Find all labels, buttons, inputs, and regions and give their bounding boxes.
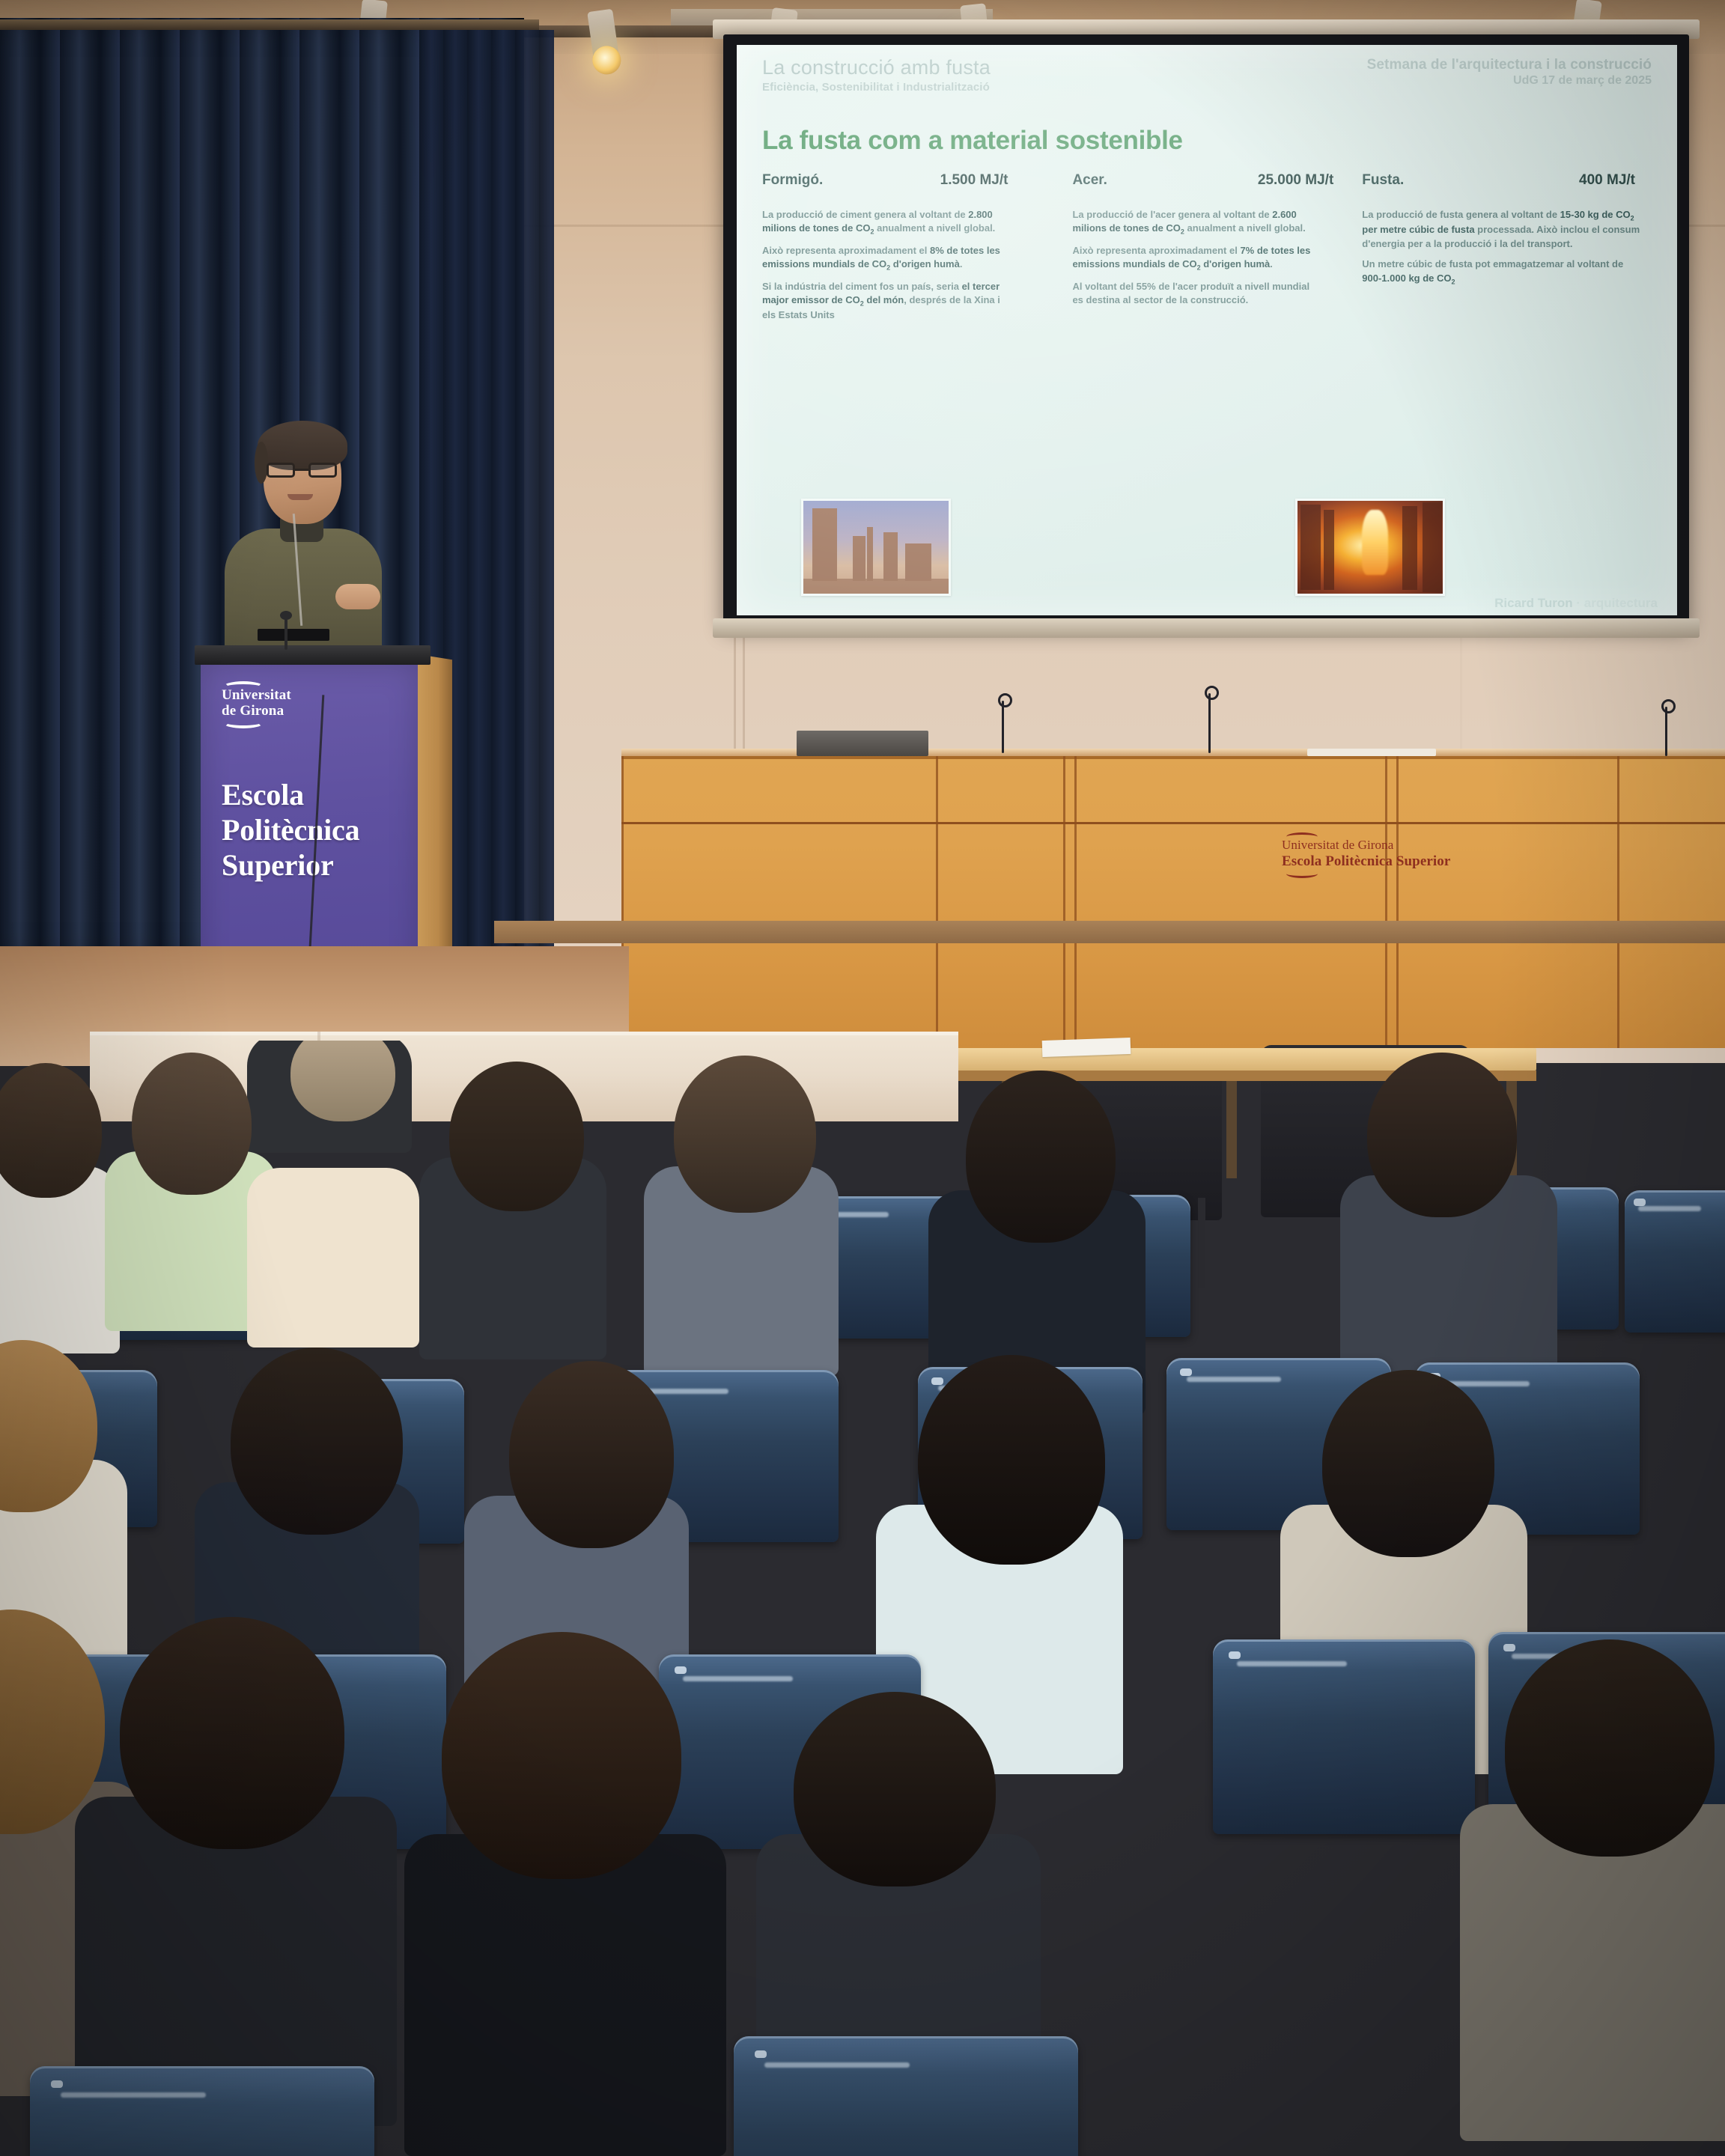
slide-header: La construcció amb fusta Eficiència, Sos…: [762, 57, 1652, 94]
material-name: Acer.: [1072, 172, 1107, 189]
slide-column-fusta: Fusta. 400 MJ/t La producció de fusta ge…: [1362, 172, 1658, 329]
audience-head: [1505, 1639, 1715, 1857]
audience-head: [1367, 1053, 1517, 1217]
slide-columns: Formigó. 1.500 MJ/t La producció de cime…: [762, 172, 1658, 329]
curtain-rod: [0, 19, 539, 30]
audience-head: [674, 1056, 816, 1213]
udg-logo: Universitat de Girona: [222, 681, 311, 728]
eps-podium-wordmark: Escola Politècnica Superior: [222, 777, 359, 883]
baseboard: [494, 921, 1725, 943]
eps-line-escola: Escola: [222, 777, 359, 812]
audience-head: [290, 1041, 395, 1121]
slide-column-formigo: Formigó. 1.500 MJ/t La producció de cime…: [762, 172, 1072, 329]
cement-plant-photo: [801, 499, 951, 596]
material-name: Formigó.: [762, 172, 823, 189]
slide-credit: Ricard Turon · arquitectura: [1494, 596, 1658, 611]
material-name: Fusta.: [1362, 172, 1404, 189]
eps-line-superior: Superior: [222, 847, 359, 883]
audience-head: [966, 1071, 1116, 1243]
udg-logo-line2: de Girona: [222, 704, 311, 719]
slide-heading: La fusta com a material sostenible: [762, 126, 1183, 156]
audience: [0, 1041, 1725, 2156]
lectern-microphone: [285, 617, 287, 650]
slide-event-date: UdG 17 de març de 2025: [1367, 74, 1652, 88]
audience-head: [231, 1347, 403, 1535]
auditorium-seat[interactable]: [734, 2036, 1078, 2156]
material-energy-value: 1.500 MJ/t: [940, 172, 1073, 189]
desk-microphone: [1208, 693, 1211, 753]
eps-wood-logo-line2: Escola Politècnica Superior: [1282, 853, 1450, 870]
audience-head: [0, 1063, 102, 1198]
lectern-microphone-head: [280, 611, 292, 620]
desk-wall: [621, 756, 1725, 1048]
auditorium-seat[interactable]: [30, 2066, 374, 2156]
audience-member: [247, 1168, 419, 1347]
av-control-box: [797, 731, 928, 756]
auditorium-photo: La construcció amb fusta Eficiència, Sos…: [0, 0, 1725, 2156]
laptop-on-lectern: [258, 629, 329, 641]
audience-head: [1322, 1370, 1494, 1557]
credit-author: Ricard Turon: [1494, 596, 1573, 610]
eyeglasses-icon: [267, 463, 337, 478]
credit-suffix: · arquitectura: [1573, 596, 1658, 610]
material-energy-value: 400 MJ/t: [1579, 172, 1658, 189]
slide-event-name: Setmana de l'arquitectura i la construcc…: [1367, 57, 1652, 73]
slide-deck-subtitle: Eficiència, Sostenibilitat i Industriali…: [762, 81, 991, 94]
auditorium-seat[interactable]: [1213, 1639, 1475, 1834]
audience-head: [120, 1617, 344, 1849]
eps-line-politecnica: Politècnica: [222, 812, 359, 847]
auditorium-seat[interactable]: [1625, 1190, 1725, 1333]
desk-microphone: [1002, 701, 1004, 753]
audience-head: [509, 1361, 674, 1548]
material-description: La producció de fusta genera al voltant …: [1362, 208, 1642, 287]
audience-head: [794, 1692, 996, 1886]
speaker-person: [225, 416, 382, 663]
slide-deck-title: La construcció amb fusta: [762, 57, 991, 79]
material-description: La producció de ciment genera al voltant…: [762, 208, 1011, 323]
desk-name-plate: [1307, 749, 1436, 756]
audience-head: [918, 1355, 1105, 1565]
udg-logo-line1: Universitat: [222, 688, 311, 704]
material-energy-value: 25.000 MJ/t: [1258, 172, 1362, 189]
material-description: La producció de l'acer genera al voltant…: [1072, 208, 1321, 308]
screen-bottom-bar: [713, 618, 1700, 638]
desk-microphone: [1665, 707, 1667, 756]
eps-wood-logo: Universitat de Girona Escola Politècnica…: [1282, 832, 1450, 878]
audience-member: [404, 1834, 726, 2156]
slide-column-acer: Acer. 25.000 MJ/t La producció de l'acer…: [1072, 172, 1362, 329]
audience-head: [132, 1053, 252, 1195]
presentation-slide: La construcció amb fusta Eficiència, Sos…: [737, 45, 1677, 615]
audience-head: [449, 1062, 584, 1211]
audience-head: [442, 1632, 681, 1879]
molten-steel-photo: [1295, 499, 1445, 596]
eps-wood-logo-line1: Universitat de Girona: [1282, 838, 1450, 853]
